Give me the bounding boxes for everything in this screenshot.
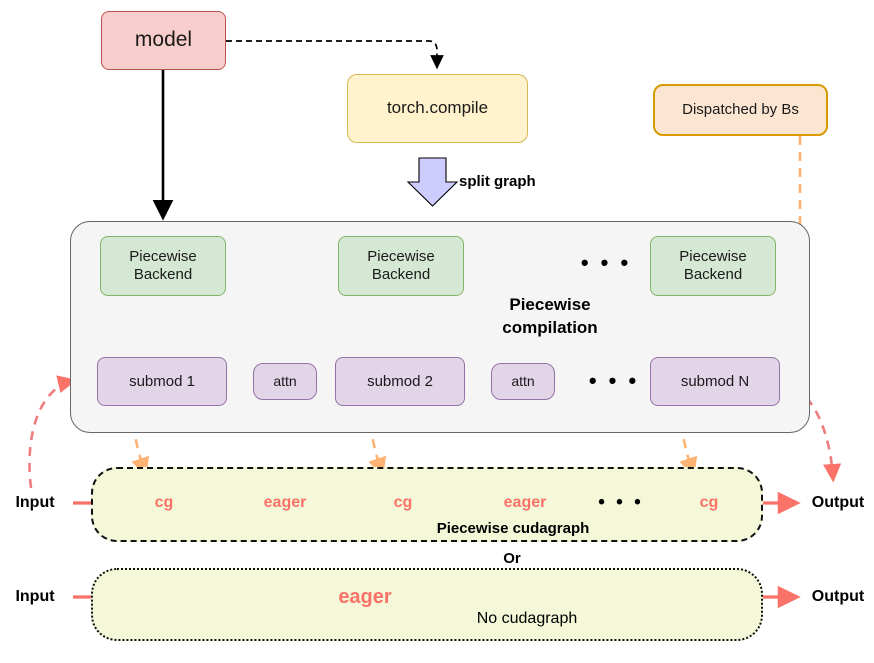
row2-caption: No cudagraph bbox=[437, 608, 617, 630]
arrow-model-to-compile bbox=[226, 41, 437, 66]
submod-ellipsis: • • • bbox=[586, 370, 642, 392]
submod-n[interactable]: submod N bbox=[650, 357, 780, 406]
or-label: Or bbox=[489, 548, 535, 568]
backend-label-line1: Piecewise bbox=[129, 248, 197, 266]
torch-compile-box[interactable]: torch.compile bbox=[347, 74, 528, 143]
backend-label-line1: Piecewise bbox=[679, 248, 747, 266]
dashed-input-to-submod1 bbox=[29, 381, 72, 488]
row1-step-eager-1: eager bbox=[251, 492, 319, 514]
row2-step-eager: eager bbox=[323, 585, 407, 609]
attn-1[interactable]: attn bbox=[253, 363, 317, 400]
attn-label: attn bbox=[511, 373, 534, 390]
no-cudagraph-box bbox=[91, 568, 763, 641]
pw-title-line2: compilation bbox=[502, 317, 597, 340]
row1-ellipsis: • • • bbox=[596, 492, 646, 514]
row1-step-cg-1: cg bbox=[142, 492, 186, 514]
piecewise-backend-n[interactable]: Piecewise Backend bbox=[650, 236, 776, 296]
piecewise-backend-2[interactable]: Piecewise Backend bbox=[338, 236, 464, 296]
submod-1[interactable]: submod 1 bbox=[97, 357, 227, 406]
row1-step-eager-2: eager bbox=[490, 492, 560, 514]
backend-label-line1: Piecewise bbox=[367, 248, 435, 266]
row1-step-cg-3: cg bbox=[688, 492, 730, 514]
piecewise-compilation-title: Piecewise compilation bbox=[470, 292, 630, 342]
split-graph-arrow-icon bbox=[408, 158, 457, 206]
backend-label-line2: Backend bbox=[372, 266, 430, 284]
diagram-canvas: model torch.compile split graph Dispatch… bbox=[0, 0, 874, 663]
model-box[interactable]: model bbox=[101, 11, 226, 70]
attn-2[interactable]: attn bbox=[491, 363, 555, 400]
submod-label: submod 2 bbox=[367, 373, 433, 391]
torch-compile-label: torch.compile bbox=[387, 98, 488, 118]
row1-output-label: Output bbox=[803, 492, 873, 514]
split-graph-label: split graph bbox=[459, 170, 569, 192]
pw-title-line1: Piecewise bbox=[509, 294, 590, 317]
row2-output-label: Output bbox=[803, 586, 873, 608]
row1-caption: Piecewise cudagraph bbox=[398, 518, 628, 538]
submod-label: submod N bbox=[681, 373, 749, 391]
submod-2[interactable]: submod 2 bbox=[335, 357, 465, 406]
attn-label: attn bbox=[273, 373, 296, 390]
row1-step-cg-2: cg bbox=[382, 492, 424, 514]
dispatched-by-bs-box[interactable]: Dispatched by Bs bbox=[653, 84, 828, 136]
model-label: model bbox=[135, 28, 192, 53]
submod-label: submod 1 bbox=[129, 373, 195, 391]
backend-label-line2: Backend bbox=[684, 266, 742, 284]
backend-label-line2: Backend bbox=[134, 266, 192, 284]
backend-ellipsis: • • • bbox=[576, 252, 636, 274]
row1-input-label: Input bbox=[3, 492, 67, 514]
dispatched-by-bs-label: Dispatched by Bs bbox=[682, 101, 799, 119]
piecewise-backend-1[interactable]: Piecewise Backend bbox=[100, 236, 226, 296]
row2-input-label: Input bbox=[3, 586, 67, 608]
